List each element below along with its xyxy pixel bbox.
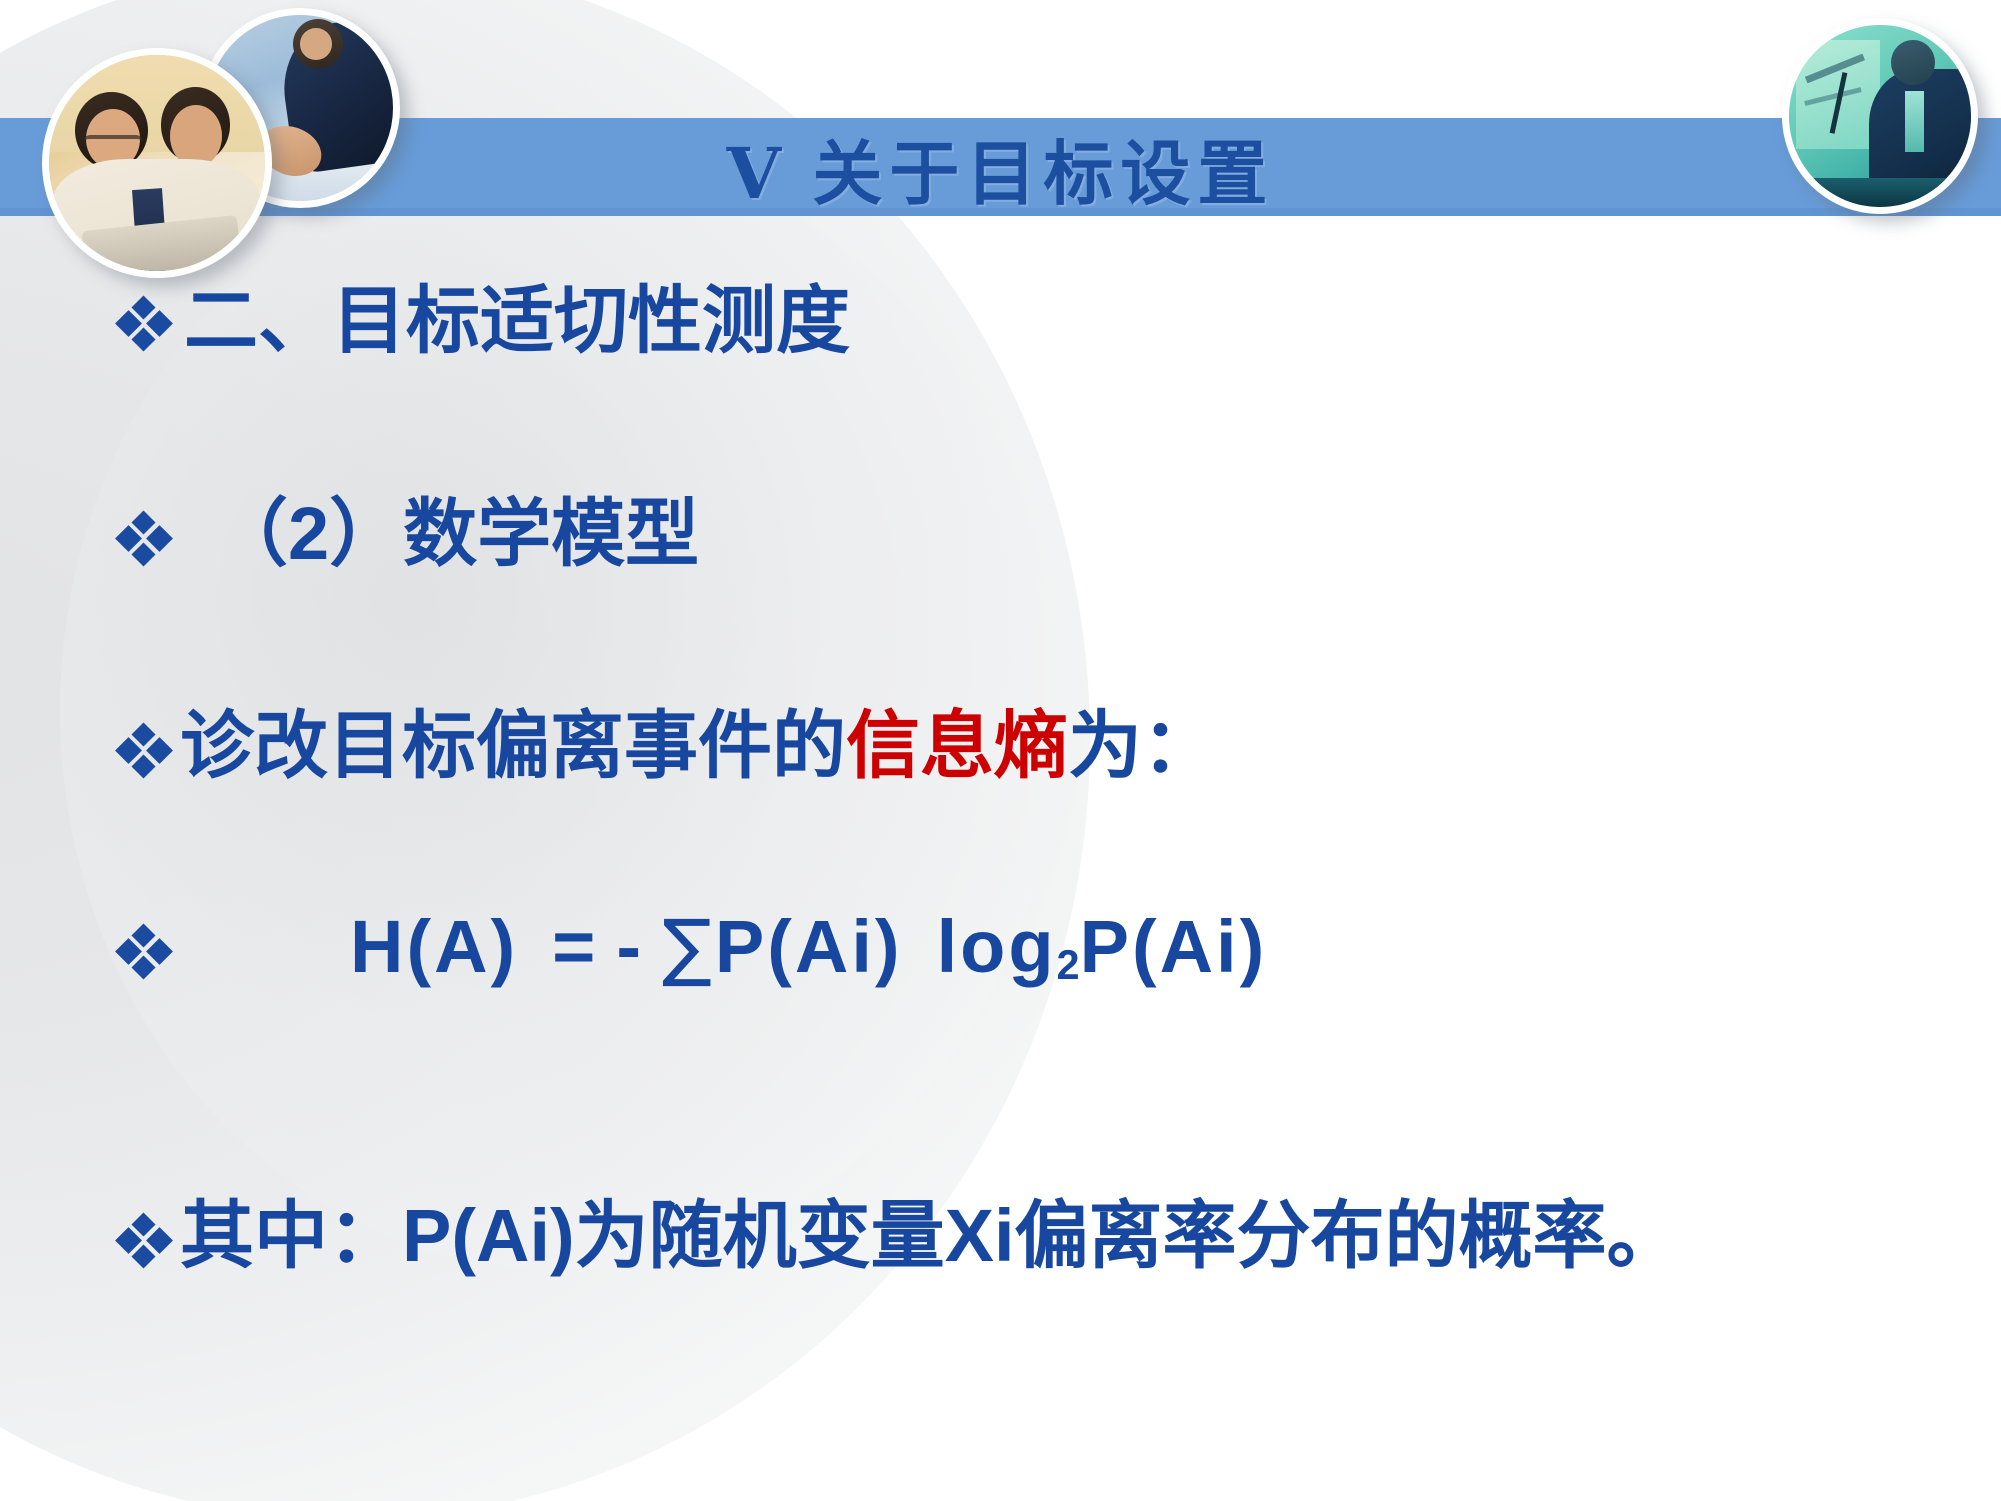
slide-body: 二、目标适切性测度 （2）数学模型 诊改目标偏离事件的信息熵为： H(A)=-∑… [0, 216, 2001, 1501]
bullet-item-3-label-part1: 诊改目标偏离事件的 [180, 686, 846, 793]
bullet-item-3-highlight: 信息熵 [846, 686, 1068, 793]
bullet-item-3: 诊改目标偏离事件的信息熵为： [118, 686, 1216, 793]
entropy-formula: H(A)=-∑P(Ai)log2P(Ai) [350, 904, 1267, 990]
formula-summation-symbol: ∑ [662, 904, 715, 990]
formula-term1: P(Ai) [715, 905, 903, 988]
presentation-slide: Ⅴ 关于目标设置 [0, 0, 2001, 1501]
formula-log-name: log [937, 905, 1057, 988]
bullet-item-2-label: （2）数学模型 [214, 474, 699, 581]
bullet-item-5-label: 其中：P(Ai)为随机变量Xi偏离率分布的概率。 [180, 1176, 1681, 1283]
diamond-bullet-icon [118, 298, 174, 354]
bullet-item-5: 其中：P(Ai)为随机变量Xi偏离率分布的概率。 [118, 1176, 1681, 1283]
diamond-bullet-icon [118, 513, 170, 565]
formula-lhs: H(A) [350, 905, 518, 988]
bullet-item-2: （2）数学模型 [118, 474, 699, 581]
diamond-bullet-icon [118, 725, 170, 777]
photo-man-with-chart-icon [1782, 18, 1978, 214]
diamond-bullet-icon [118, 1215, 170, 1267]
formula-minus: - [616, 905, 644, 988]
bullet-item-3-label-part2: 为： [1068, 686, 1216, 793]
formula-equals: = [552, 905, 598, 988]
formula-term2: P(Ai) [1080, 905, 1268, 988]
bullet-item-4-formula: H(A)=-∑P(Ai)log2P(Ai) [118, 904, 1267, 990]
bullet-item-1-label: 二、目标适切性测度 [184, 261, 850, 368]
formula-log-base: 2 [1057, 941, 1080, 988]
diamond-bullet-icon [118, 926, 170, 978]
bullet-item-1: 二、目标适切性测度 [118, 261, 850, 368]
